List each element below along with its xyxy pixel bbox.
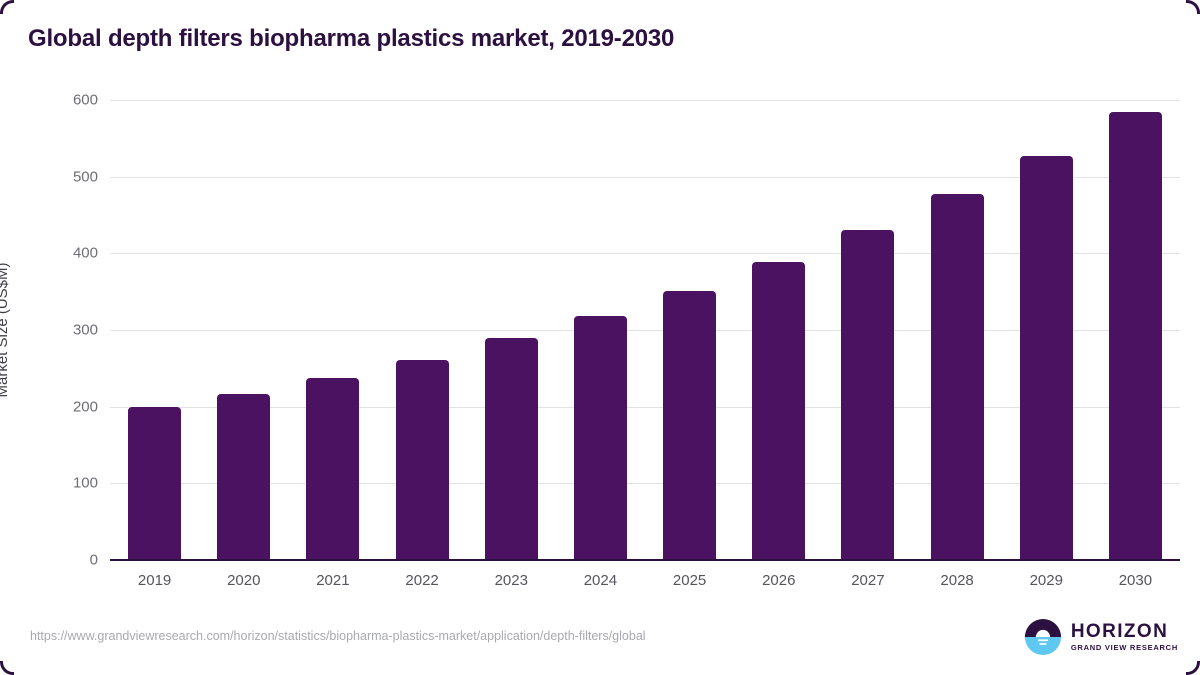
bar-2029[interactable] [1020, 156, 1073, 560]
x-tick-label: 2030 [1095, 572, 1175, 589]
plot-area [110, 100, 1180, 560]
y-axis-label: Market Size (US$M) [0, 262, 11, 397]
x-tick-label: 2022 [382, 572, 462, 589]
bar-2023[interactable] [485, 338, 538, 560]
bar-2026[interactable] [752, 262, 805, 560]
horizon-logo-text: HORIZON GRAND VIEW RESEARCH [1071, 622, 1178, 652]
corner-mark-top-right [1186, 0, 1200, 14]
y-tick-label: 600 [28, 92, 98, 109]
bar-2024[interactable] [574, 316, 627, 560]
corner-mark-bottom-right [1186, 661, 1200, 675]
bar-2030[interactable] [1109, 112, 1162, 561]
x-tick-label: 2024 [560, 572, 640, 589]
y-tick-label: 200 [28, 398, 98, 415]
page-title: Global depth filters biopharma plastics … [28, 25, 674, 53]
x-tick-label: 2028 [917, 572, 997, 589]
corner-mark-bottom-left [0, 661, 14, 675]
y-tick-label: 400 [28, 245, 98, 262]
y-tick-label: 500 [28, 168, 98, 185]
horizon-sunrise-icon [1024, 618, 1062, 656]
logo-name: HORIZON [1071, 622, 1178, 641]
bar-2022[interactable] [396, 360, 449, 560]
x-tick-label: 2027 [828, 572, 908, 589]
x-tick-label: 2020 [204, 572, 284, 589]
bar-2027[interactable] [841, 230, 894, 560]
x-tick-label: 2019 [115, 572, 195, 589]
source-url: https://www.grandviewresearch.com/horizo… [30, 629, 646, 643]
logo-tagline: GRAND VIEW RESEARCH [1071, 644, 1178, 652]
bar-2019[interactable] [128, 407, 181, 560]
bar-2020[interactable] [217, 394, 270, 560]
x-tick-label: 2026 [739, 572, 819, 589]
x-axis-line [110, 559, 1180, 561]
horizon-logo: HORIZON GRAND VIEW RESEARCH [1024, 618, 1178, 656]
y-tick-label: 100 [28, 475, 98, 492]
x-tick-label: 2029 [1006, 572, 1086, 589]
bar-series [110, 100, 1180, 560]
bar-2025[interactable] [663, 291, 716, 560]
bar-2028[interactable] [931, 194, 984, 560]
corner-mark-top-left [0, 0, 14, 14]
x-tick-label: 2021 [293, 572, 373, 589]
bar-2021[interactable] [306, 378, 359, 560]
x-tick-label: 2025 [650, 572, 730, 589]
x-tick-label: 2023 [471, 572, 551, 589]
y-tick-label: 300 [28, 322, 98, 339]
y-tick-label: 0 [28, 552, 98, 569]
